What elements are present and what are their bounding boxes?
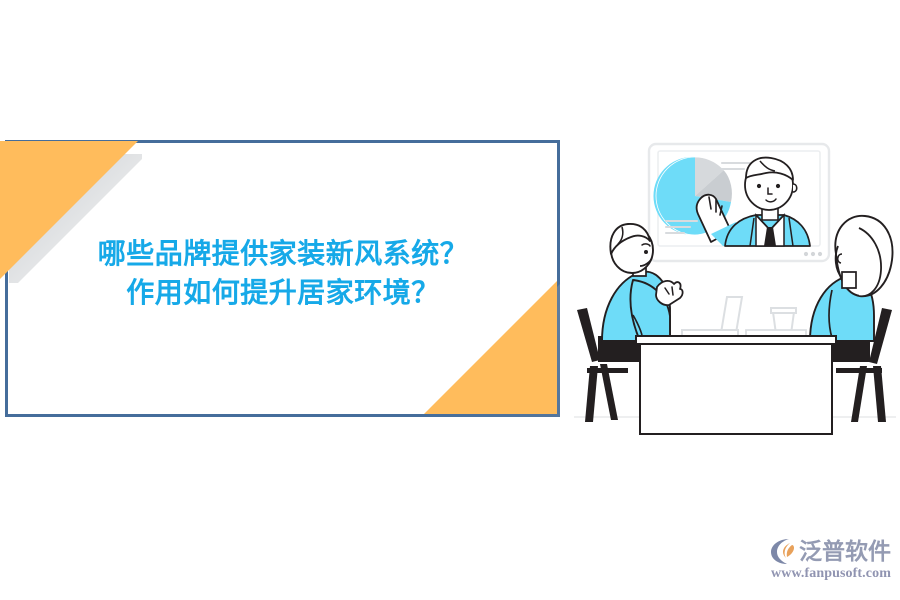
right-person-neck <box>842 272 856 288</box>
slide-canvas: 哪些品牌提供家装新风系统？ 作用如何提升居家环境？ <box>0 0 900 600</box>
watermark: 泛普软件 www.fanpusoft.com <box>768 534 894 592</box>
watermark-url-text: www.fanpusoft.com <box>768 566 894 582</box>
banner-title-line-2: 作用如何提升居家环境？ <box>8 275 558 314</box>
monitor-status-dots <box>804 252 822 256</box>
watermark-brand-row: 泛普软件 <box>768 534 894 568</box>
cup <box>746 308 806 336</box>
wall-monitor <box>649 144 829 261</box>
fanpu-circle-logo-icon <box>768 536 798 566</box>
presenter-eye-left <box>757 184 761 188</box>
presenter-ear <box>793 184 797 192</box>
laptop <box>682 297 742 336</box>
banner-title: 哪些品牌提供家装新风系统？ 作用如何提升居家环境？ <box>8 236 558 313</box>
left-person-hand <box>656 281 683 305</box>
presenter-eye-right <box>776 184 780 188</box>
conference-table <box>636 336 836 434</box>
cup-lid <box>771 308 796 313</box>
left-person-eye <box>644 250 648 254</box>
banner-title-line-1: 哪些品牌提供家装新风系统？ <box>8 236 558 275</box>
table-body <box>640 344 832 434</box>
watermark-brand-text: 泛普软件 <box>799 536 891 566</box>
table-top <box>636 336 836 344</box>
laptop-screen <box>721 297 742 333</box>
video-conference-illustration <box>570 130 900 460</box>
